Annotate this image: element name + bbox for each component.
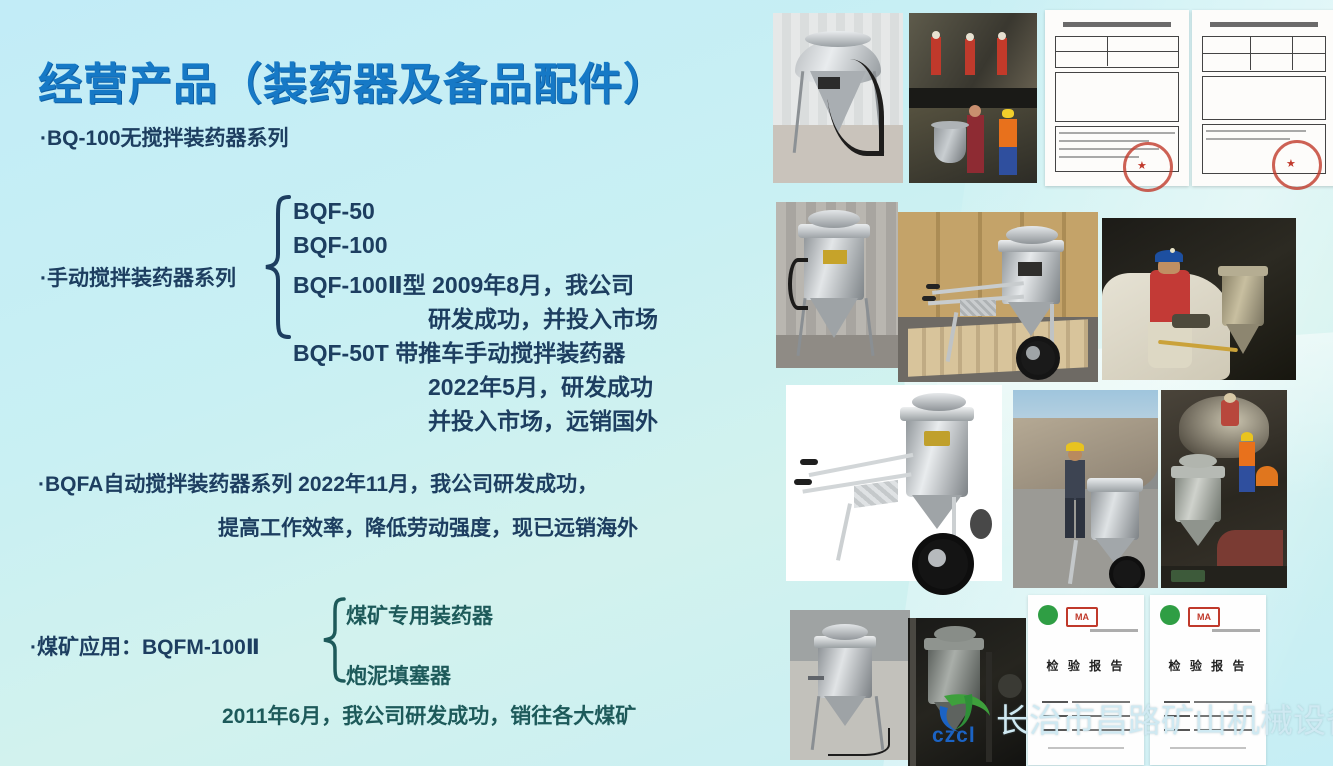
manual-item-1: BQF-100 [293, 232, 388, 259]
page-title: 经营产品（装药器及备品配件） [38, 48, 668, 112]
label-coal-application: ·煤矿应用：BQFM-100Ⅱ [30, 631, 260, 661]
logo-text: czcl [932, 724, 976, 748]
manual-item-3: 研发成功，并投入市场 [428, 300, 658, 334]
manual-item-6: 并投入市场，远销国外 [428, 402, 658, 436]
ma-badge-icon: MA [1188, 607, 1220, 627]
workshop-unit-photo [790, 610, 910, 760]
tunnel-work-photo [1161, 390, 1287, 588]
ma-badge-icon: MA [1066, 607, 1098, 627]
auto-series-line-2: 提高工作效率，降低劳动强度，现已远销海外 [218, 512, 638, 542]
photo-gallery: ★ ★ [770, 0, 1333, 766]
coal-item-1: 煤矿专用装药器 [346, 600, 493, 630]
auto-series-line-1: ·BQFA自动搅拌装药器系列 2022年11月，我公司研发成功， [38, 468, 598, 498]
brace-manual [259, 194, 293, 340]
manual-item-5: 2022年5月，研发成功 [428, 368, 653, 402]
coal-note: 2011年6月，我公司研发成功，销往各大煤矿 [222, 700, 636, 730]
certificate-1: ★ [1045, 10, 1189, 186]
slide-root: 经营产品（装药器及备品配件） ·BQ-100无搅拌装药器系列 ·手动搅拌装药器系… [0, 0, 1333, 766]
report-title-1: 检 验 报 告 [1044, 657, 1128, 674]
bqf-50t-cart-photo [898, 212, 1098, 382]
safety-badge-icon [1038, 605, 1058, 625]
underground-operator-photo [1102, 218, 1296, 380]
bullet-bq100: ·BQ-100无搅拌装药器系列 [40, 122, 289, 152]
manual-item-0: BQF-50 [293, 198, 375, 225]
coal-item-2: 炮泥填塞器 [346, 660, 451, 690]
brace-coal [318, 596, 348, 684]
certificate-2: ★ [1192, 10, 1333, 186]
mine-workers-photo [909, 13, 1037, 183]
label-manual-series: ·手动搅拌装药器系列 [40, 262, 236, 292]
text-column: 经营产品（装药器及备品配件） ·BQ-100无搅拌装药器系列 ·手动搅拌装药器系… [0, 0, 770, 766]
manual-item-2: BQF-100Ⅱ型 2009年8月，我公司 [293, 266, 634, 300]
bq100-charger-photo [773, 13, 903, 183]
outdoor-site-photo [1013, 390, 1158, 588]
manual-item-4: BQF-50T 带推车手动搅拌装药器 [293, 334, 625, 368]
company-watermark: 长治市昌路矿山机械设备制造有限公司 [996, 694, 1333, 742]
bqfa-cart-render [786, 385, 1002, 581]
company-logo: czcl [930, 686, 1000, 752]
bqf-vessel-photo [776, 202, 898, 368]
report-title-2: 检 验 报 告 [1166, 657, 1250, 674]
safety-badge-icon [1160, 605, 1180, 625]
